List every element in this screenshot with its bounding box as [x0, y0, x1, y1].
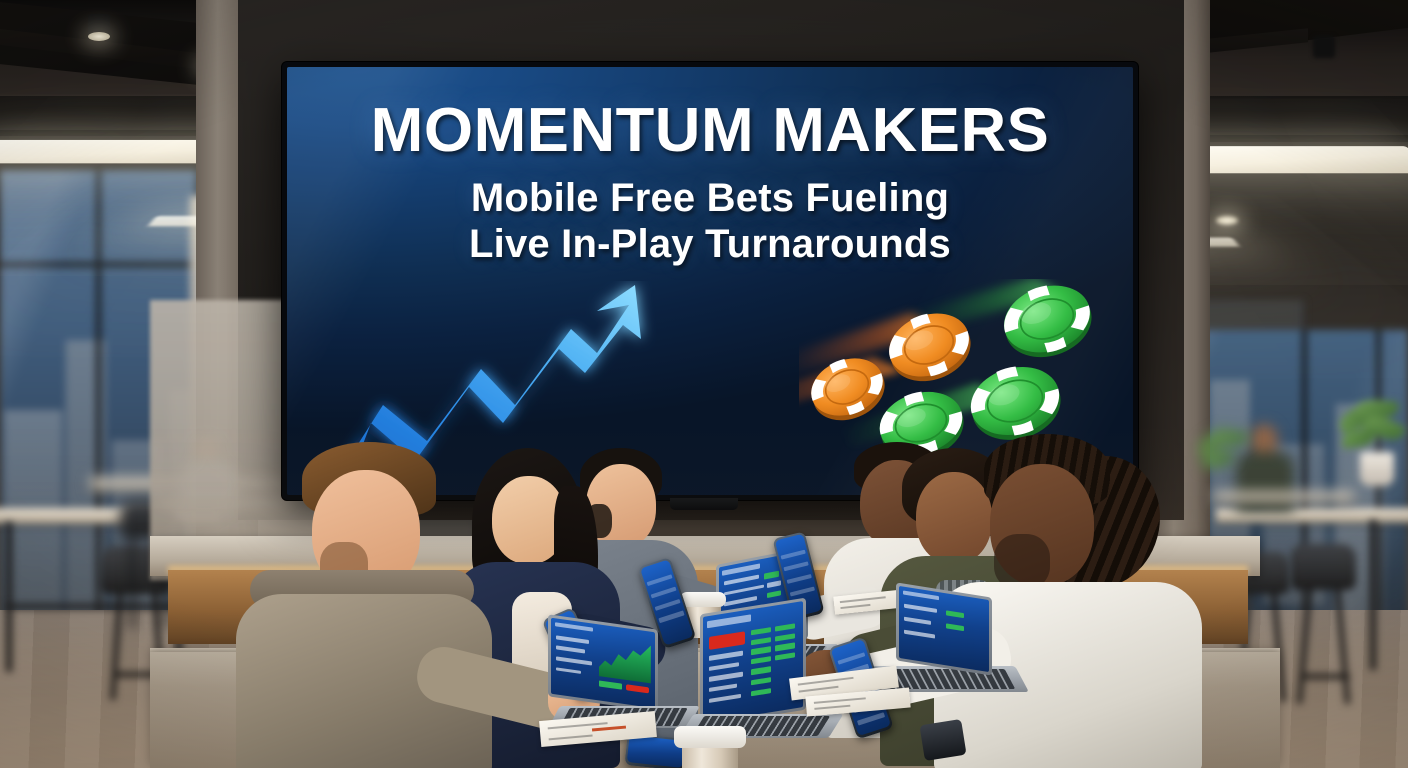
- tv-headline-block: MOMENTUM MAKERS Mobile Free Bets Fueling…: [287, 99, 1133, 267]
- potted-plant: [1196, 430, 1256, 520]
- downlight-icon: [1216, 216, 1238, 225]
- tv-screen: MOMENTUM MAKERS Mobile Free Bets Fueling…: [287, 67, 1133, 495]
- tv-headline: MOMENTUM MAKERS: [287, 99, 1133, 162]
- downlight-icon: [88, 32, 110, 41]
- live-badge: [709, 631, 745, 649]
- tv-subtitle: Mobile Free Bets Fueling Live In-Play Tu…: [287, 176, 1133, 267]
- laptop-screen: [703, 601, 803, 723]
- tv-sensor-nub: [670, 498, 738, 510]
- casino-chip-cluster: [799, 279, 1129, 459]
- downlight-housing: [1313, 36, 1335, 58]
- promotional-scene: MOMENTUM MAKERS Mobile Free Bets Fueling…: [0, 0, 1408, 768]
- wall-mounted-television[interactable]: MOMENTUM MAKERS Mobile Free Bets Fueling…: [282, 62, 1138, 500]
- laptop-screen: [899, 586, 989, 672]
- tv-subtitle-line-2: Live In-Play Turnarounds: [287, 222, 1133, 268]
- price-chart: [599, 635, 651, 683]
- laptop-screen: [551, 618, 655, 709]
- tv-subtitle-line-1: Mobile Free Bets Fueling: [287, 176, 1133, 222]
- potted-plant: [1338, 400, 1408, 510]
- wrist-watch: [919, 719, 966, 761]
- chips-svg: [799, 279, 1129, 459]
